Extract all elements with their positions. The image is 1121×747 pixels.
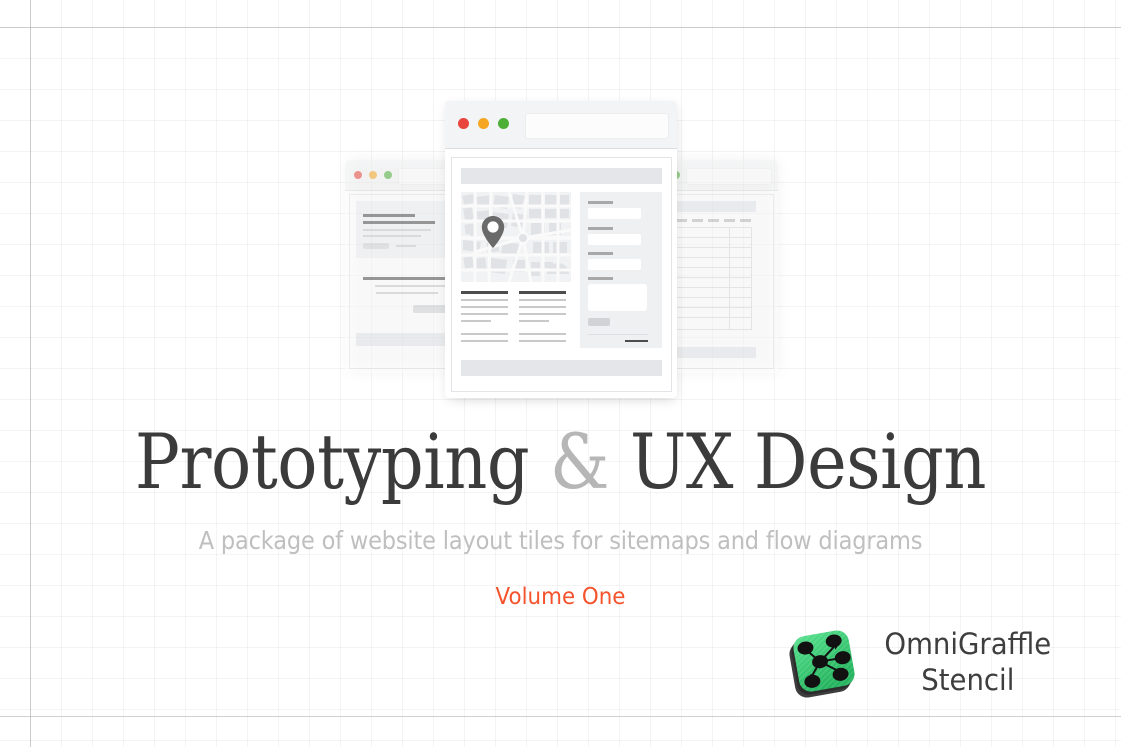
- col2-line-4: [519, 320, 549, 322]
- left-window-traffic-lights[interactable]: [354, 171, 392, 179]
- minimize-light-icon[interactable]: [478, 118, 489, 129]
- col2-line-1: [519, 299, 566, 301]
- close-light-icon[interactable]: [458, 118, 469, 129]
- col1-line-5: [461, 333, 508, 335]
- form-panel: [580, 192, 662, 348]
- form-label-2: [588, 227, 613, 230]
- table-column-header: [692, 219, 703, 222]
- col2-line-3: [519, 313, 566, 315]
- col1-line-6: [461, 340, 508, 342]
- left-hero-heading-a: [363, 214, 415, 217]
- form-input-1[interactable]: [588, 208, 641, 219]
- center-window-url-bar[interactable]: [525, 113, 669, 139]
- subtitle: A package of website layout tiles for si…: [56, 526, 1065, 555]
- col2-heading: [519, 291, 566, 294]
- form-label-3: [588, 252, 613, 255]
- left-content-heading: [363, 277, 458, 280]
- form-input-2[interactable]: [588, 234, 641, 245]
- form-input-3[interactable]: [588, 259, 641, 270]
- right-window-url-bar[interactable]: [686, 168, 772, 185]
- left-hero-cta-chip[interactable]: [363, 243, 389, 249]
- map-tile[interactable]: [461, 192, 571, 282]
- table-col-rule: [729, 227, 730, 329]
- page-title: Prototyping & UX Design: [67, 420, 1053, 504]
- left-content-line-2: [376, 292, 438, 294]
- map-illustration: [461, 192, 571, 282]
- center-header-bar: [461, 168, 662, 184]
- table-column-header: [740, 219, 751, 222]
- form-divider: [588, 334, 648, 335]
- form-submit-button[interactable]: [588, 318, 610, 326]
- hero-artwork: [0, 0, 1121, 420]
- center-window-chrome: [445, 101, 677, 149]
- omnigraffle-label-line-1: OmniGraffle: [884, 626, 1051, 662]
- left-hero-heading-b: [363, 221, 435, 224]
- col1-heading: [461, 291, 508, 294]
- omnigraffle-icon-art: [780, 619, 866, 705]
- center-window-traffic-lights[interactable]: [458, 118, 509, 129]
- maximize-light-icon[interactable]: [498, 118, 509, 129]
- table-column-header: [724, 219, 735, 222]
- table-col-rule: [751, 227, 752, 329]
- volume-label: Volume One: [39, 584, 1082, 610]
- maximize-light-icon[interactable]: [384, 171, 392, 179]
- omnigraffle-label: OmniGraffle Stencil: [884, 626, 1051, 698]
- center-window[interactable]: [445, 101, 677, 398]
- col2-line-6: [519, 340, 566, 342]
- col1-line-3: [461, 313, 508, 315]
- title-part-one: Prototyping: [135, 417, 529, 506]
- left-hero-body-2: [363, 235, 421, 237]
- close-light-icon[interactable]: [354, 171, 362, 179]
- title-part-two: UX Design: [630, 417, 986, 506]
- left-hero-body-1: [363, 229, 431, 231]
- title-block: Prototyping & UX Design A package of web…: [0, 420, 1121, 610]
- center-window-body: [451, 157, 672, 392]
- table-column-header: [708, 219, 719, 222]
- form-footnote: [625, 340, 648, 342]
- form-label-1: [588, 201, 613, 204]
- title-ampersand: &: [550, 417, 609, 506]
- minimize-light-icon[interactable]: [369, 171, 377, 179]
- col2-line-2: [519, 306, 566, 308]
- col1-line-2: [461, 306, 508, 308]
- form-label-4: [588, 277, 613, 280]
- omnigraffle-label-line-2: Stencil: [884, 662, 1051, 698]
- table-column-header: [676, 219, 687, 222]
- col1-line-1: [461, 299, 508, 301]
- omnigraffle-badge: OmniGraffle Stencil: [780, 612, 1080, 712]
- omnigraffle-app-icon: [780, 619, 866, 705]
- col1-line-4: [461, 320, 491, 322]
- center-footer-bar: [461, 360, 662, 376]
- form-textarea[interactable]: [588, 284, 647, 311]
- col2-line-5: [519, 333, 566, 335]
- left-hero-cta-note: [396, 245, 416, 247]
